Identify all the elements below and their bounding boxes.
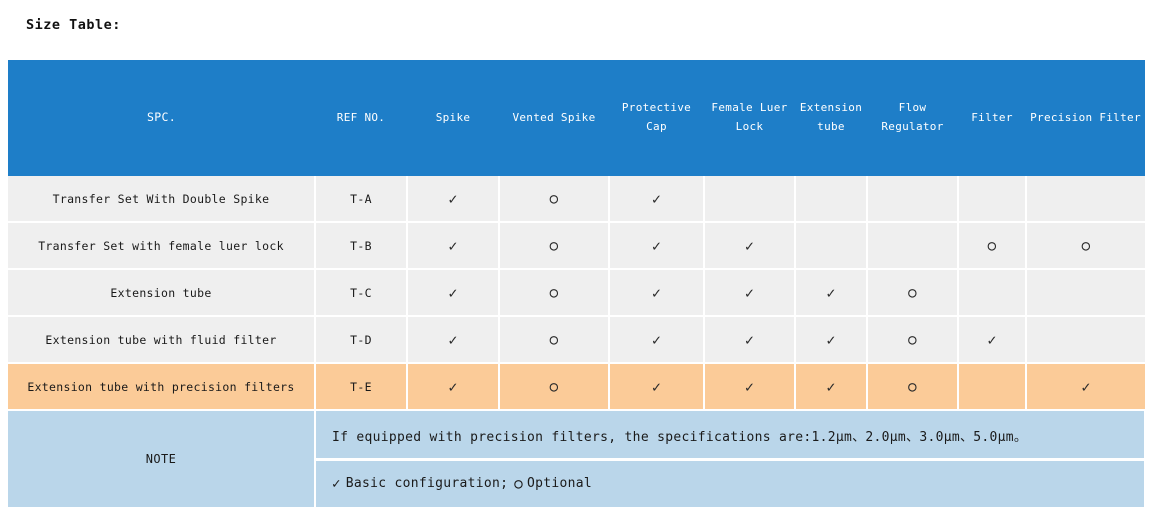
cell-vented-spike: ○ [499, 269, 609, 316]
header-row: SPC. REF NO. Spike Vented Spike Protecti… [8, 60, 1145, 176]
mark-icon: ✓ [652, 286, 661, 301]
check-icon: ✓ [332, 476, 341, 492]
cell-precision-filter [1026, 269, 1145, 316]
mark-icon: ✓ [448, 286, 457, 301]
mark-icon: ○ [988, 239, 997, 253]
cell-filter: ○ [958, 222, 1026, 269]
mark-icon: ○ [550, 333, 559, 347]
cell-ref-no: T-D [315, 316, 407, 363]
cell-spike: ✓ [407, 176, 499, 222]
note-row: NOTE If equipped with precision filters,… [8, 410, 1145, 507]
cell-precision-filter [1026, 316, 1145, 363]
column-header-extension-tube: Extension tube [795, 60, 867, 176]
column-header-spike: Spike [407, 60, 499, 176]
cell-protective-cap: ✓ [609, 316, 704, 363]
cell-protective-cap: ✓ [609, 176, 704, 222]
cell-filter [958, 363, 1026, 410]
cell-vented-spike: ○ [499, 363, 609, 410]
mark-icon: ○ [908, 333, 917, 347]
cell-female-luer-lock: ✓ [704, 363, 795, 410]
mark-icon: ○ [550, 380, 559, 394]
cell-ref-no: T-A [315, 176, 407, 222]
cell-protective-cap: ✓ [609, 222, 704, 269]
column-header-precision-filter: Precision Filter [1026, 60, 1145, 176]
mark-icon: ○ [1082, 239, 1091, 253]
page-title: Size Table: [26, 17, 121, 33]
column-header-protective-cap: Protective Cap [609, 60, 704, 176]
column-header-vented-spike: Vented Spike [499, 60, 609, 176]
cell-extension-tube: ✓ [795, 269, 867, 316]
table-row: Extension tube T-C ✓ ○ ✓ ✓ ✓ ○ [8, 269, 1145, 316]
note-label: NOTE [8, 410, 315, 507]
table-row: Extension tube with fluid filter T-D ✓ ○… [8, 316, 1145, 363]
cell-precision-filter: ○ [1026, 222, 1145, 269]
cell-spc: Extension tube with fluid filter [8, 316, 315, 363]
cell-extension-tube [795, 176, 867, 222]
note-body: If equipped with precision filters, the … [315, 410, 1145, 507]
mark-icon: ✓ [652, 192, 661, 207]
legend-optional-text: Optional [527, 476, 592, 491]
legend-basic-configuration-text: Basic configuration; [346, 476, 509, 491]
mark-icon: ✓ [745, 239, 754, 254]
cell-filter: ✓ [958, 316, 1026, 363]
note-legend-line: ✓ Basic configuration; ○ Optional [316, 461, 1144, 506]
mark-icon: ✓ [1081, 380, 1090, 395]
cell-precision-filter [1026, 176, 1145, 222]
cell-spc: Transfer Set With Double Spike [8, 176, 315, 222]
cell-vented-spike: ○ [499, 222, 609, 269]
mark-icon: ○ [550, 239, 559, 253]
table-row: Transfer Set With Double Spike T-A ✓ ○ ✓ [8, 176, 1145, 222]
mark-icon: ✓ [745, 333, 754, 348]
cell-female-luer-lock [704, 176, 795, 222]
cell-female-luer-lock: ✓ [704, 269, 795, 316]
note-specifications-text: If equipped with precision filters, the … [332, 426, 1027, 445]
cell-extension-tube: ✓ [795, 363, 867, 410]
size-table: SPC. REF NO. Spike Vented Spike Protecti… [8, 60, 1146, 507]
mark-icon: ✓ [826, 286, 835, 301]
table-body: Transfer Set With Double Spike T-A ✓ ○ ✓… [8, 176, 1145, 507]
mark-icon: ✓ [448, 333, 457, 348]
mark-icon: ✓ [652, 333, 661, 348]
column-header-spc: SPC. [8, 60, 315, 176]
mark-icon: ✓ [826, 333, 835, 348]
column-header-ref-no: REF NO. [315, 60, 407, 176]
mark-icon: ○ [550, 192, 559, 206]
cell-flow-regulator: ○ [867, 316, 958, 363]
mark-icon: ✓ [448, 239, 457, 254]
mark-icon: ✓ [987, 333, 996, 348]
mark-icon: ○ [908, 380, 917, 394]
cell-filter [958, 269, 1026, 316]
cell-spike: ✓ [407, 316, 499, 363]
cell-protective-cap: ✓ [609, 363, 704, 410]
column-header-flow-regulator: Flow Regulator [867, 60, 958, 176]
cell-spc: Extension tube with precision filters [8, 363, 315, 410]
cell-female-luer-lock: ✓ [704, 222, 795, 269]
cell-filter [958, 176, 1026, 222]
table-header: SPC. REF NO. Spike Vented Spike Protecti… [8, 60, 1145, 176]
cell-flow-regulator: ○ [867, 269, 958, 316]
mark-icon: ✓ [652, 380, 661, 395]
mark-icon: ✓ [448, 380, 457, 395]
cell-extension-tube [795, 222, 867, 269]
mark-icon: ✓ [745, 286, 754, 301]
mark-icon: ○ [908, 286, 917, 300]
cell-spc: Extension tube [8, 269, 315, 316]
column-header-filter: Filter [958, 60, 1026, 176]
mark-icon: ✓ [652, 239, 661, 254]
cell-extension-tube: ✓ [795, 316, 867, 363]
cell-flow-regulator [867, 176, 958, 222]
cell-female-luer-lock: ✓ [704, 316, 795, 363]
circle-icon: ○ [514, 476, 523, 492]
mark-icon: ✓ [745, 380, 754, 395]
cell-precision-filter: ✓ [1026, 363, 1145, 410]
size-table-container: SPC. REF NO. Spike Vented Spike Protecti… [8, 60, 1145, 507]
cell-spike: ✓ [407, 222, 499, 269]
cell-spike: ✓ [407, 269, 499, 316]
cell-spc: Transfer Set with female luer lock [8, 222, 315, 269]
cell-protective-cap: ✓ [609, 269, 704, 316]
cell-ref-no: T-E [315, 363, 407, 410]
mark-icon: ✓ [448, 192, 457, 207]
cell-ref-no: T-B [315, 222, 407, 269]
note-specifications-line: If equipped with precision filters, the … [316, 412, 1144, 461]
cell-flow-regulator [867, 222, 958, 269]
cell-vented-spike: ○ [499, 316, 609, 363]
mark-icon: ○ [550, 286, 559, 300]
table-row: Transfer Set with female luer lock T-B ✓… [8, 222, 1145, 269]
cell-vented-spike: ○ [499, 176, 609, 222]
cell-flow-regulator: ○ [867, 363, 958, 410]
cell-ref-no: T-C [315, 269, 407, 316]
cell-spike: ✓ [407, 363, 499, 410]
table-row: Extension tube with precision filters T-… [8, 363, 1145, 410]
column-header-female-luer-lock: Female Luer Lock [704, 60, 795, 176]
mark-icon: ✓ [826, 380, 835, 395]
